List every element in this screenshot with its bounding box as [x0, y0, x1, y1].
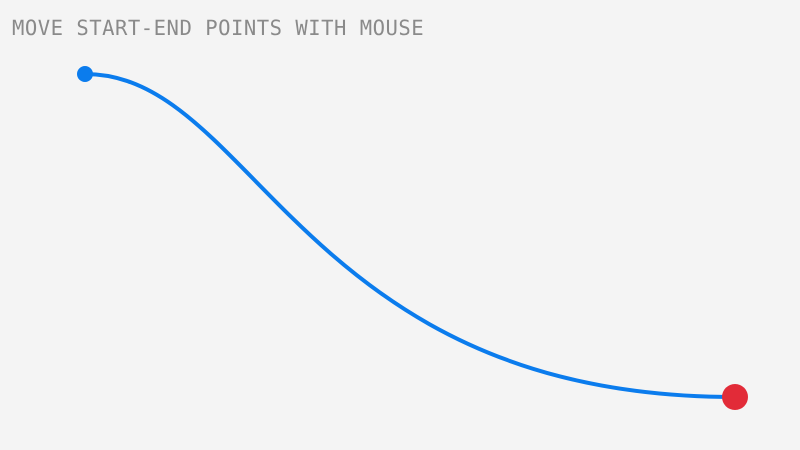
page-title: MOVE START-END POINTS WITH MOUSE: [12, 17, 424, 39]
end-handle[interactable]: [722, 384, 748, 410]
canvas-background: [0, 0, 800, 450]
app-root: MOVE START-END POINTS WITH MOUSE: [0, 0, 800, 450]
start-handle[interactable]: [77, 66, 93, 82]
curve-canvas[interactable]: [0, 0, 800, 450]
